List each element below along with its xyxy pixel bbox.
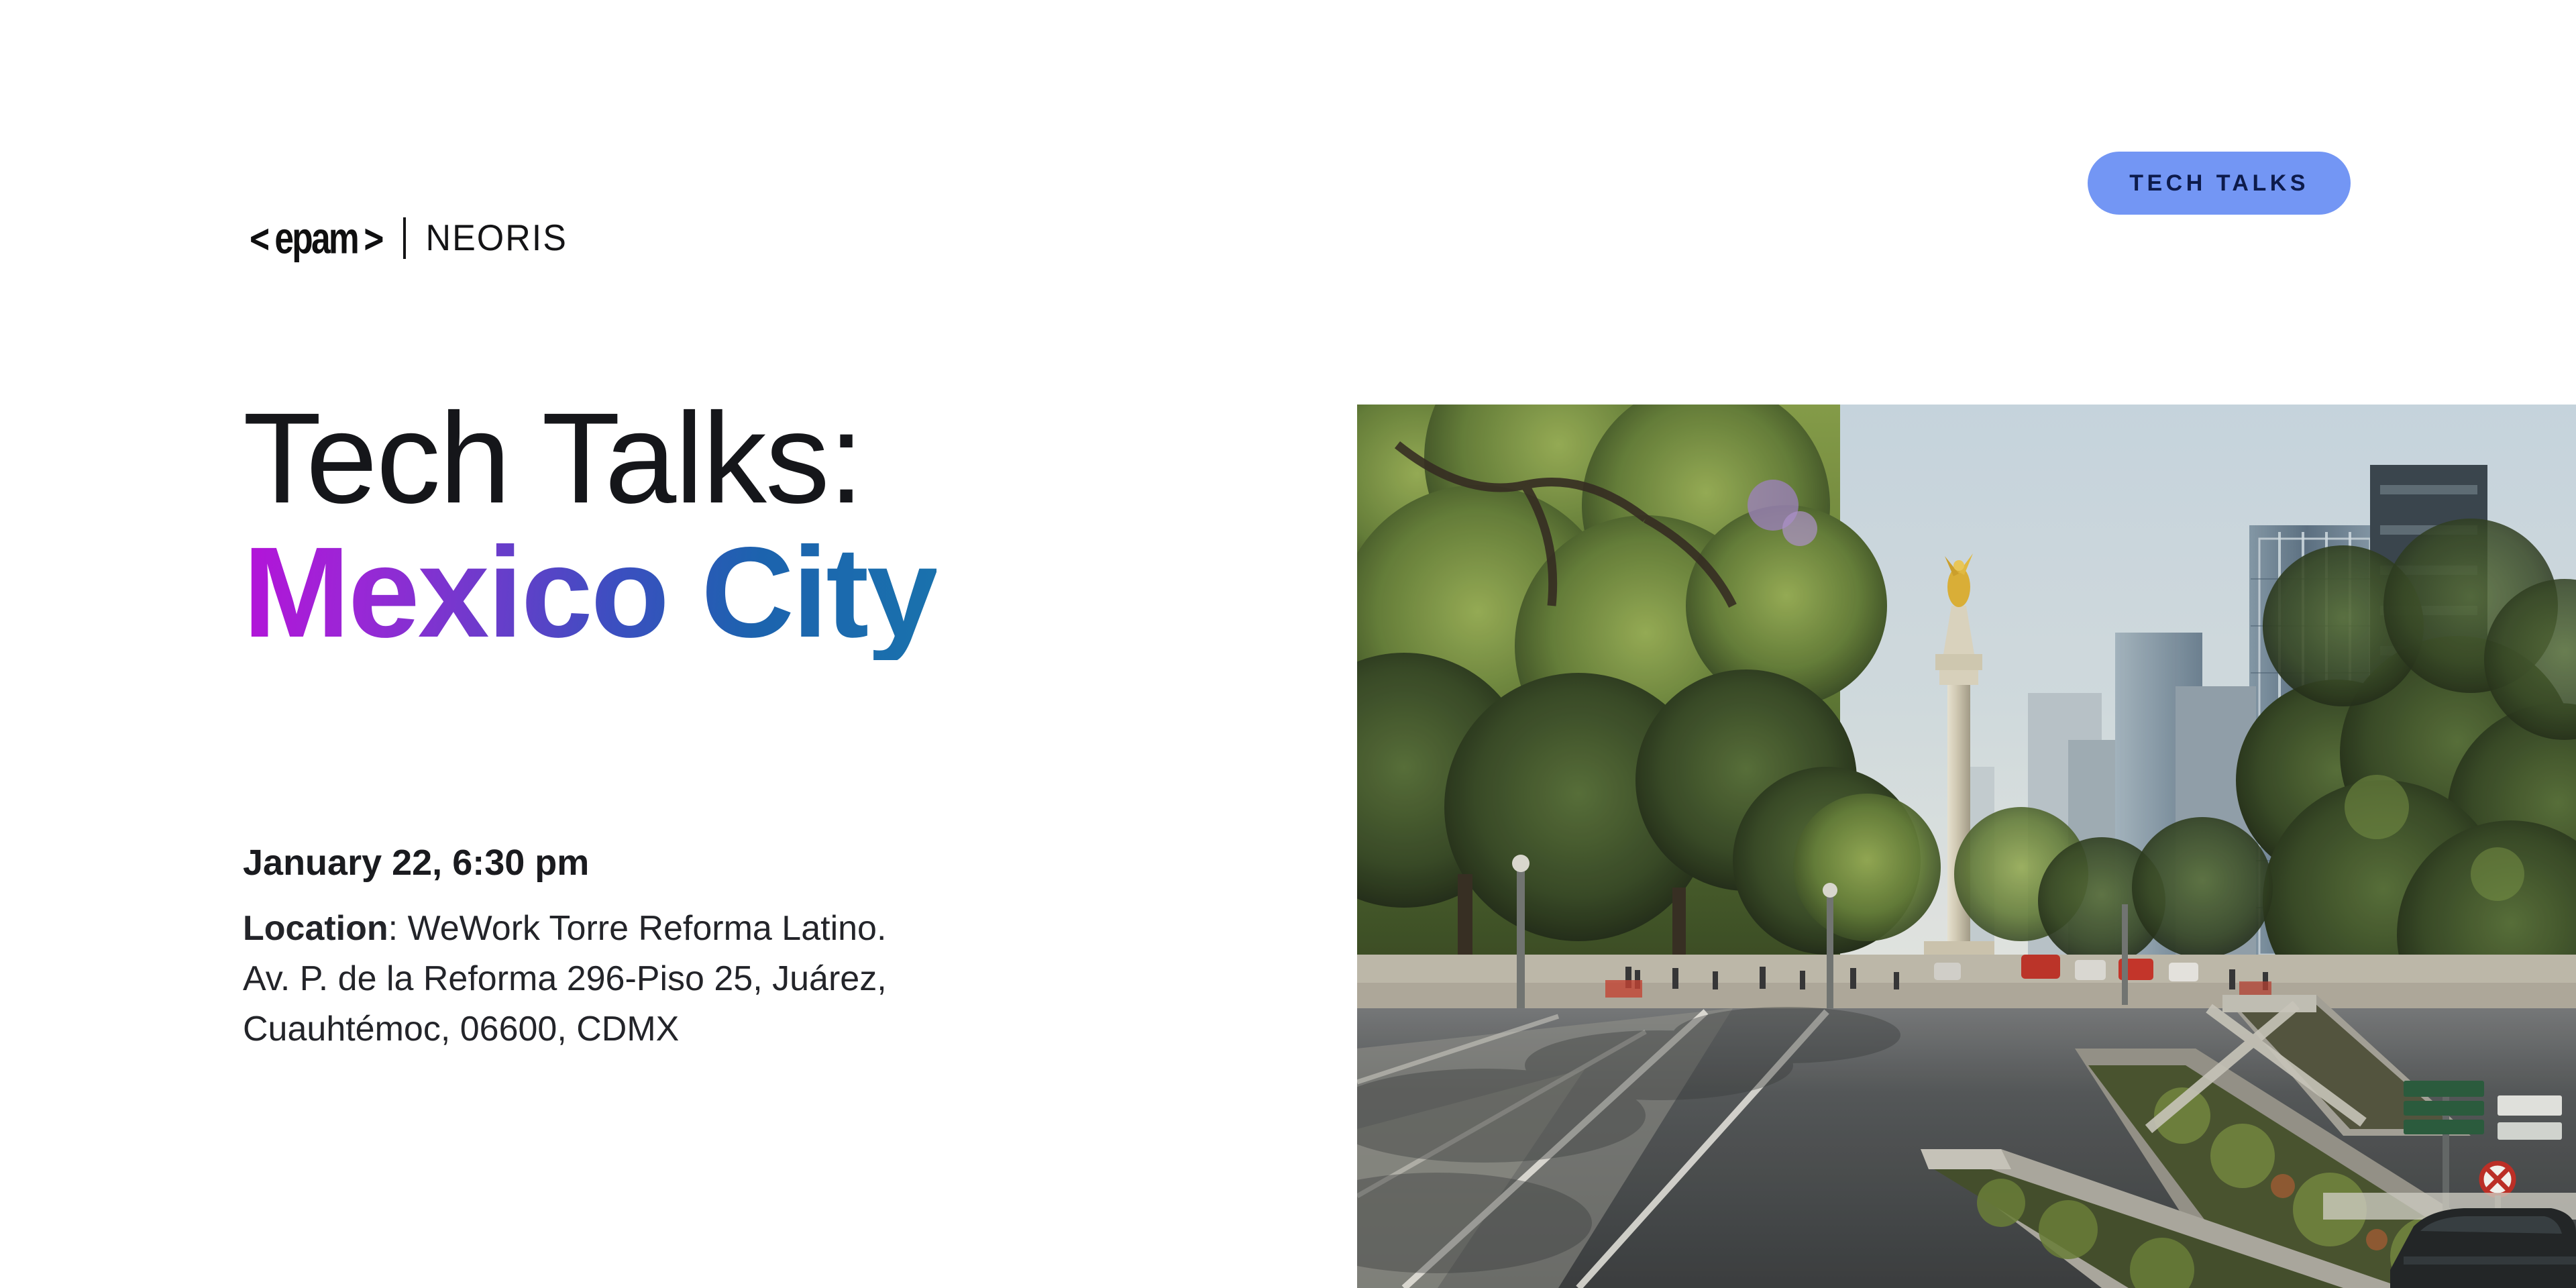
- location-street: Av. P. de la Reforma 296-Piso 25, Juárez…: [243, 959, 887, 998]
- epam-bracket-open-icon: <: [250, 213, 268, 262]
- location-city: Cuauhtémoc, 06600, CDMX: [243, 1010, 679, 1049]
- epam-logo: < epam >: [250, 216, 383, 260]
- logo-divider: [403, 217, 406, 259]
- event-details: January 22, 6:30 pm Location: WeWork Tor…: [243, 842, 1289, 1055]
- location-label: Location: [243, 909, 388, 948]
- location-separator: :: [388, 909, 408, 948]
- headline-line-gradient: Mexico City: [243, 524, 936, 661]
- page-title: Tech Talks: Mexico City: [243, 392, 936, 660]
- event-datetime: January 22, 6:30 pm: [243, 842, 1289, 883]
- brand-logo-lockup: < epam > NEORIS: [250, 216, 568, 260]
- tech-talks-badge: TECH TALKS: [2088, 152, 2351, 215]
- event-photo: [1357, 405, 2576, 1288]
- event-location: Location: WeWork Torre Reforma Latino. A…: [243, 904, 1289, 1055]
- neoris-logo: NEORIS: [426, 217, 568, 259]
- epam-bracket-close-icon: >: [364, 213, 382, 262]
- location-venue: WeWork Torre Reforma Latino.: [408, 909, 887, 948]
- headline-line-primary: Tech Talks:: [243, 392, 936, 524]
- photo-illustration: [1357, 405, 2576, 1288]
- epam-wordmark: epam: [274, 212, 358, 264]
